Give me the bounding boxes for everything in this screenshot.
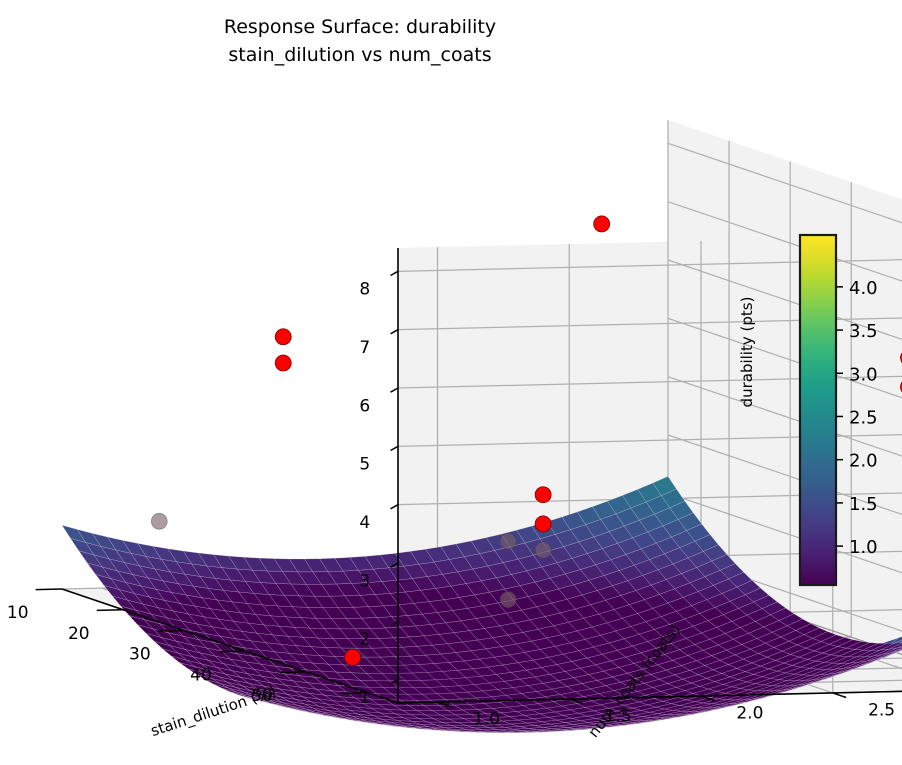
x-tick (97, 610, 123, 611)
colorbar-tick-label: 3.0 (849, 364, 878, 385)
scatter-point (345, 649, 361, 665)
figure-canvas: 010203040501.01.52.02.53.012345678stain_… (0, 0, 902, 765)
colorbar-tick-label: 4.0 (849, 278, 878, 299)
scatter-point (275, 355, 291, 371)
scatter-point (151, 513, 167, 529)
response-surface-3d-plot: 010203040501.01.52.02.53.012345678stain_… (0, 0, 902, 765)
colorbar (800, 235, 836, 586)
scatter-point (500, 592, 516, 608)
scatter-point (535, 487, 551, 503)
y-tick (833, 693, 846, 698)
colorbar-tick-label: 1.5 (849, 494, 878, 515)
colorbar-tick-label: 2.5 (849, 407, 878, 428)
x-tick (280, 672, 306, 673)
x-tick (219, 651, 245, 652)
y-tick-label: 1.0 (473, 710, 500, 730)
z-axis-label: durability (pts) (738, 297, 756, 408)
z-tick (391, 271, 398, 275)
scatter-point (500, 533, 516, 549)
x-tick-label: 30 (129, 645, 151, 665)
x-axis-label: stain_dilution (%) (148, 682, 278, 741)
scatter-point (275, 329, 291, 345)
x-tick (36, 589, 62, 590)
z-tick-label: 1 (359, 688, 370, 708)
z-tick (391, 388, 398, 392)
y-tick-label: 2.0 (736, 704, 763, 724)
y-tick-label: 2.5 (868, 701, 895, 721)
x-tick-label: 20 (68, 624, 90, 644)
z-tick (391, 446, 398, 450)
plot-title-line-1: Response Surface: durability (224, 16, 496, 38)
plot-title-line-2: stain_dilution vs num_coats (228, 44, 491, 66)
colorbar-tick-label: 2.0 (849, 451, 878, 472)
z-tick-label: 6 (359, 396, 370, 416)
colorbar-tick-label: 3.5 (849, 321, 878, 342)
colorbar-tick-label: 1.0 (849, 537, 878, 558)
z-tick-label: 7 (359, 338, 370, 358)
z-tick-label: 4 (359, 513, 370, 533)
z-tick-label: 8 (359, 280, 370, 300)
x-tick-label: 10 (7, 603, 29, 623)
z-tick-label: 2 (359, 630, 370, 650)
scatter-point (594, 216, 610, 232)
x-tick-label: 40 (190, 665, 212, 685)
z-tick-label: 5 (359, 455, 370, 475)
z-tick-label: 3 (359, 571, 370, 591)
scatter-point (535, 516, 551, 532)
x-tick (158, 630, 184, 631)
z-tick (391, 330, 398, 334)
z-tick (391, 505, 398, 509)
scatter-point (535, 542, 551, 558)
